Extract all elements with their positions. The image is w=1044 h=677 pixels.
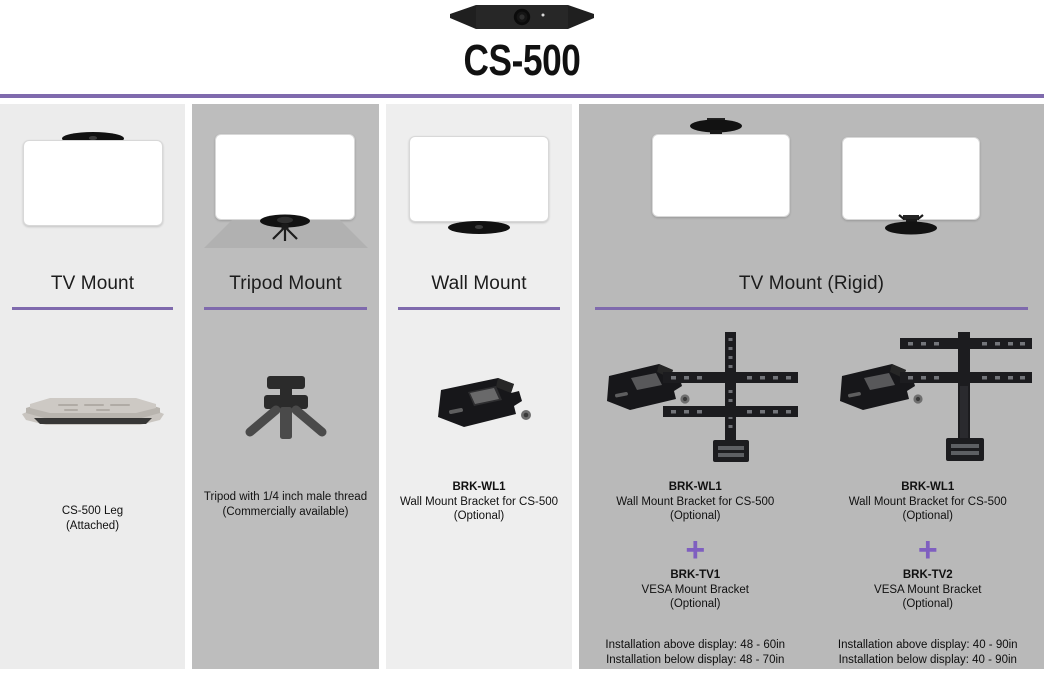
- header: CS-500: [0, 0, 1044, 96]
- column-heading: Wall Mount: [386, 269, 572, 295]
- tripod-mount-illustration: [192, 104, 379, 269]
- caption-line-2: (Commercially available): [192, 505, 379, 520]
- device-on-tripod-icon: [248, 212, 322, 246]
- cs-500-leg-icon: [0, 382, 185, 442]
- vesa-bracket-code: BRK-TV1: [579, 568, 812, 583]
- column-heading: TV Mount (Rigid): [579, 269, 1044, 295]
- caption-line-1: Tripod with 1/4 inch male thread: [192, 490, 379, 505]
- video-bar-device-icon: [446, 2, 598, 32]
- column-heading: TV Mount: [0, 269, 185, 295]
- vesa-bracket-name: VESA Mount Bracket: [812, 583, 1044, 598]
- install-above-display: Installation above display: 40 - 90in: [812, 638, 1044, 653]
- caption-code: BRK-WL1: [386, 480, 572, 495]
- infographic-page: CS-500 TV Mount: [0, 0, 1044, 677]
- column-heading: Tripod Mount: [192, 269, 379, 295]
- wall-mount-bracket-plus-vesa-bracket-tv1-icon: [601, 328, 811, 468]
- installation-specs: Installation above display: 48 - 60in In…: [579, 638, 812, 668]
- device-below-tv-icon: [448, 221, 510, 234]
- product-caption: BRK-WL1 Wall Mount Bracket for CS-500 (O…: [386, 480, 572, 524]
- caption-line-1: CS-500 Leg: [0, 504, 185, 519]
- mount-options-band: TV Mount: [0, 104, 1044, 669]
- tv-display-graphic: [215, 134, 355, 220]
- tv-mount-illustration: [0, 104, 185, 269]
- mini-tripod-icon: [192, 368, 379, 448]
- tv-display-graphic: [409, 136, 549, 222]
- column-wall-mount[interactable]: Wall Mount BRK-WL1 Wall M: [386, 104, 572, 669]
- plus-icon: +: [579, 537, 812, 563]
- vesa-bracket-note: (Optional): [579, 597, 812, 612]
- wall-bracket-name: Wall Mount Bracket for CS-500: [579, 495, 812, 510]
- wall-bracket-caption: BRK-WL1 Wall Mount Bracket for CS-500 (O…: [579, 480, 812, 524]
- install-above-display: Installation above display: 48 - 60in: [579, 638, 812, 653]
- caption-line-2: Wall Mount Bracket for CS-500: [386, 495, 572, 510]
- heading-underline: [398, 307, 560, 310]
- vesa-bracket-note: (Optional): [812, 597, 1044, 612]
- vesa-bracket-code: BRK-TV2: [812, 568, 1044, 583]
- heading-underline: [12, 307, 173, 310]
- column-tv-mount[interactable]: TV Mount: [0, 104, 185, 669]
- installation-specs: Installation above display: 40 - 90in In…: [812, 638, 1044, 668]
- caption-line-3: (Optional): [386, 509, 572, 524]
- tv-display-graphic: [652, 134, 790, 217]
- vesa-bracket-caption: BRK-TV2 VESA Mount Bracket (Optional): [812, 568, 1044, 612]
- column-tripod-mount[interactable]: Tripod Mount Tripod with 1/4 inch male t…: [192, 104, 379, 669]
- product-caption: Tripod with 1/4 inch male thread (Commer…: [192, 490, 379, 519]
- wall-mount-bracket-plus-vesa-bracket-tv2-icon: [834, 328, 1044, 468]
- vesa-bracket-caption: BRK-TV1 VESA Mount Bracket (Optional): [579, 568, 812, 612]
- column-tv-mount-rigid[interactable]: TV Mount (Rigid): [579, 104, 1044, 669]
- caption-line-2: (Attached): [0, 519, 185, 534]
- product-caption: CS-500 Leg (Attached): [0, 504, 185, 533]
- wall-mount-illustration: [386, 104, 572, 269]
- rigid-variants: BRK-WL1 Wall Mount Bracket for CS-500 (O…: [579, 328, 1044, 677]
- plus-icon: +: [812, 537, 1044, 563]
- tv-display-graphic: [23, 140, 163, 226]
- install-below-display: Installation below display: 48 - 70in: [579, 653, 812, 668]
- device-below-tv-icon: [874, 214, 948, 240]
- install-below-display: Installation below display: 40 - 90in: [812, 653, 1044, 668]
- wall-mount-bracket-icon: [386, 360, 572, 444]
- wall-bracket-caption: BRK-WL1 Wall Mount Bracket for CS-500 (O…: [812, 480, 1044, 524]
- wall-bracket-code: BRK-WL1: [579, 480, 812, 495]
- variant-brk-tv2[interactable]: BRK-WL1 Wall Mount Bracket for CS-500 (O…: [812, 328, 1044, 677]
- tv-display-graphic: [842, 137, 980, 220]
- heading-underline: [595, 307, 1028, 310]
- page-title: CS-500: [104, 36, 939, 86]
- header-divider: [0, 94, 1044, 98]
- variant-brk-tv1[interactable]: BRK-WL1 Wall Mount Bracket for CS-500 (O…: [579, 328, 812, 677]
- rigid-mount-illustration: [579, 104, 1044, 269]
- wall-bracket-note: (Optional): [812, 509, 1044, 524]
- wall-bracket-name: Wall Mount Bracket for CS-500: [812, 495, 1044, 510]
- wall-bracket-code: BRK-WL1: [812, 480, 1044, 495]
- heading-underline: [204, 307, 367, 310]
- wall-bracket-note: (Optional): [579, 509, 812, 524]
- vesa-bracket-name: VESA Mount Bracket: [579, 583, 812, 598]
